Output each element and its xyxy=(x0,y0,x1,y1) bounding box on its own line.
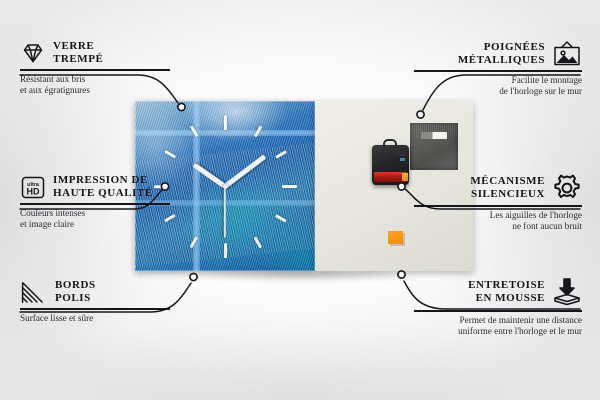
metal-hanger-plate xyxy=(410,123,458,170)
callout-rule xyxy=(414,205,582,207)
clock-tick xyxy=(282,185,297,188)
callout-head: VERRE TREMPÉ xyxy=(20,40,170,66)
movement-switch xyxy=(397,150,405,156)
callout-rule xyxy=(20,203,170,205)
infographic-canvas: VERRE TREMPÉ Résistant aux bris et aux é… xyxy=(0,0,600,400)
battery xyxy=(374,172,407,182)
clock-tick xyxy=(224,115,227,130)
movement-label xyxy=(400,158,405,161)
ultra-hd-icon: ultra HD xyxy=(20,175,46,200)
clock-center-hub xyxy=(223,184,228,189)
callout-subtitle-line-2: de l'horloge sur le mur xyxy=(414,86,582,97)
callout-rule xyxy=(414,310,582,312)
callout-subtitle-line-1: Les aiguilles de l'horloge xyxy=(414,210,582,221)
callout-impression-haute-qualite[interactable]: ultra HD IMPRESSION DE HAUTE QUALITÉ Cou… xyxy=(20,174,170,230)
foam-spacer-arrow-icon xyxy=(552,277,582,307)
callout-subtitle-line-2: et aux égratignures xyxy=(20,85,170,96)
callout-head: ultra HD IMPRESSION DE HAUTE QUALITÉ xyxy=(20,174,170,200)
callout-subtitle-line-1: Permet de maintenir une distance xyxy=(414,315,582,326)
polished-edge-icon xyxy=(20,281,48,304)
movement-hanging-bail xyxy=(383,139,397,148)
callout-subtitle-line-1: Facilite le montage xyxy=(414,75,582,86)
callout-head: POIGNÉES MÉTALLIQUES xyxy=(414,40,582,67)
callout-subtitle-line-1: Résistant aux bris xyxy=(20,74,170,85)
callout-title: BORDS POLIS xyxy=(55,279,96,305)
callout-subtitle-line-2: uniforme entre l'horloge et le mur xyxy=(414,326,582,337)
callout-verre-trempe[interactable]: VERRE TREMPÉ Résistant aux bris et aux é… xyxy=(20,40,170,96)
gear-icon xyxy=(552,174,582,202)
diamond-icon xyxy=(20,42,46,64)
callout-title: POIGNÉES MÉTALLIQUES xyxy=(458,41,545,67)
callout-entretoise-en-mousse[interactable]: ENTRETOISE EN MOUSSE Permet de maintenir… xyxy=(414,277,582,337)
callout-title: ENTRETOISE EN MOUSSE xyxy=(468,279,545,305)
callout-subtitle-line-1: Couleurs intenses xyxy=(20,208,170,219)
picture-frame-hanger-icon xyxy=(552,40,582,67)
callout-subtitle-line-2: ne font aucun bruit xyxy=(414,221,582,232)
callout-head: MÉCANISME SILENCIEUX xyxy=(414,174,582,202)
callout-bords-polis[interactable]: BORDS POLIS Surface lisse et sûre xyxy=(20,279,170,324)
clock-tick xyxy=(224,243,227,258)
quartz-movement xyxy=(372,145,409,185)
callout-head: BORDS POLIS xyxy=(20,279,170,305)
callout-rule xyxy=(20,69,170,71)
callout-rule xyxy=(20,308,170,310)
callout-title: MÉCANISME SILENCIEUX xyxy=(470,175,545,201)
callout-subtitle-line-1: Surface lisse et sûre xyxy=(20,313,170,324)
callout-rule xyxy=(414,70,582,72)
foam-spacer xyxy=(388,231,403,244)
callout-subtitle-line-2: et image claire xyxy=(20,219,170,230)
callout-title: VERRE TREMPÉ xyxy=(53,40,103,66)
hanger-slot xyxy=(421,132,447,139)
callout-title: IMPRESSION DE HAUTE QUALITÉ xyxy=(53,174,153,200)
callout-head: ENTRETOISE EN MOUSSE xyxy=(414,277,582,307)
svg-text:HD: HD xyxy=(27,186,40,196)
callout-poignees-metalliques[interactable]: POIGNÉES MÉTALLIQUES Facilite le montage… xyxy=(414,40,582,97)
clock-second-hand xyxy=(224,186,226,238)
callout-mecanisme-silencieux[interactable]: MÉCANISME SILENCIEUX Les aiguilles de l'… xyxy=(414,174,582,232)
